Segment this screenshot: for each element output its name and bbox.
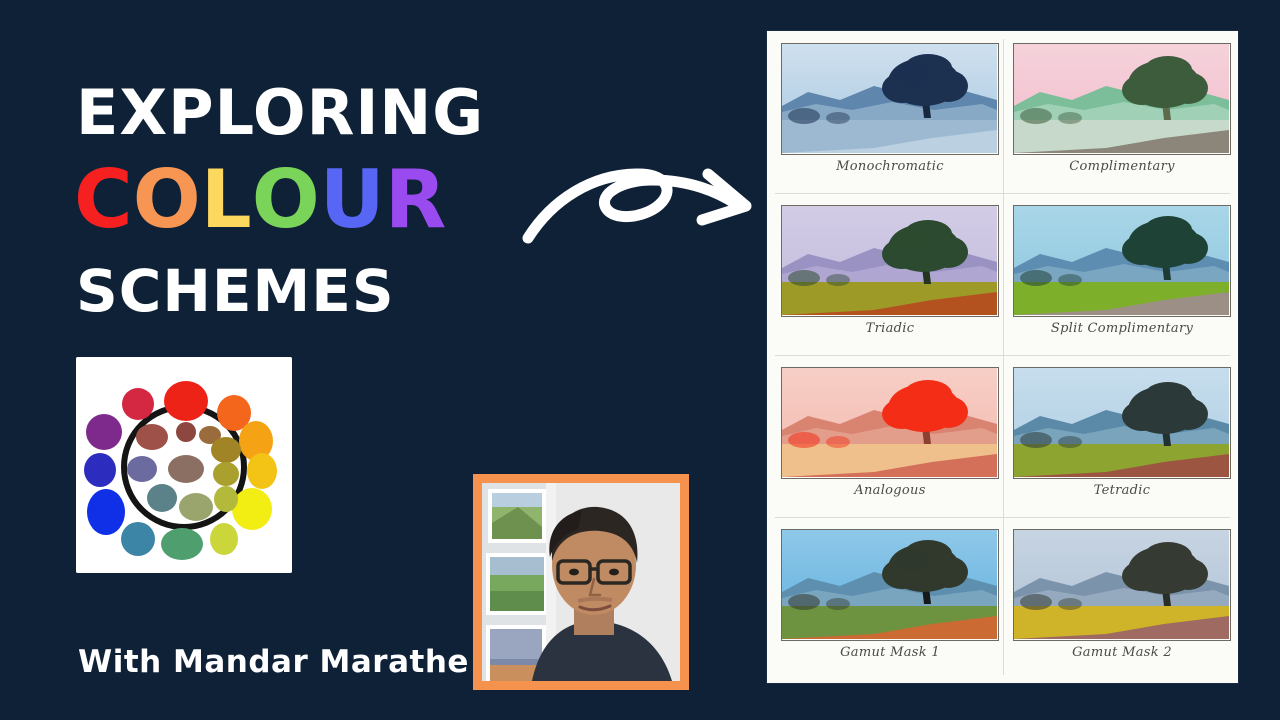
study-label: Split Complimentary — [1013, 321, 1231, 336]
title-letter-5: R — [385, 160, 447, 240]
colour-scheme-study: Gamut Mask 2 — [1013, 529, 1231, 679]
title-letter-2: L — [201, 160, 252, 240]
colour-scheme-study: Gamut Mask 1 — [781, 529, 999, 679]
page-title-line1: EXPLORING — [76, 82, 484, 144]
colour-scheme-study: Monochromatic — [781, 43, 999, 193]
study-label: Gamut Mask 2 — [1013, 645, 1231, 660]
study-label: Complimentary — [1013, 159, 1231, 174]
colour-scheme-study: Triadic — [781, 205, 999, 355]
colour-wheel-image — [76, 357, 292, 573]
page-title-colour-word: COLOUR — [74, 160, 446, 240]
study-painting — [1013, 529, 1231, 641]
title-letter-1: O — [133, 160, 201, 240]
title-letter-3: O — [252, 160, 320, 240]
title-letter-4: U — [320, 160, 385, 240]
study-painting — [1013, 205, 1231, 317]
sketchbook-page: Monochromatic Complimentary — [767, 31, 1238, 683]
thumbnail-canvas: EXPLORING COLOUR SCHEMES — [0, 0, 1280, 720]
study-label: Gamut Mask 1 — [781, 645, 999, 660]
presenter-photo — [473, 474, 689, 690]
byline-text: With Mandar Marathe — [78, 644, 469, 680]
colour-scheme-study: Complimentary — [1013, 43, 1231, 193]
study-label: Tetradic — [1013, 483, 1231, 498]
study-painting — [781, 43, 999, 155]
left-text-panel: EXPLORING COLOUR SCHEMES — [0, 0, 760, 720]
title-letter-0: C — [74, 160, 133, 240]
study-painting — [781, 529, 999, 641]
colour-scheme-study: Analogous — [781, 367, 999, 517]
curved-arrow-right-icon — [522, 158, 770, 244]
study-painting — [1013, 43, 1231, 155]
study-painting — [781, 367, 999, 479]
study-painting — [1013, 367, 1231, 479]
pencil-rule-line — [1003, 39, 1004, 675]
colour-scheme-study: Split Complimentary — [1013, 205, 1231, 355]
study-label: Analogous — [781, 483, 999, 498]
page-title-line3: SCHEMES — [76, 262, 395, 320]
study-label: Monochromatic — [781, 159, 999, 174]
colour-scheme-study: Tetradic — [1013, 367, 1231, 517]
study-label: Triadic — [781, 321, 999, 336]
study-painting — [781, 205, 999, 317]
